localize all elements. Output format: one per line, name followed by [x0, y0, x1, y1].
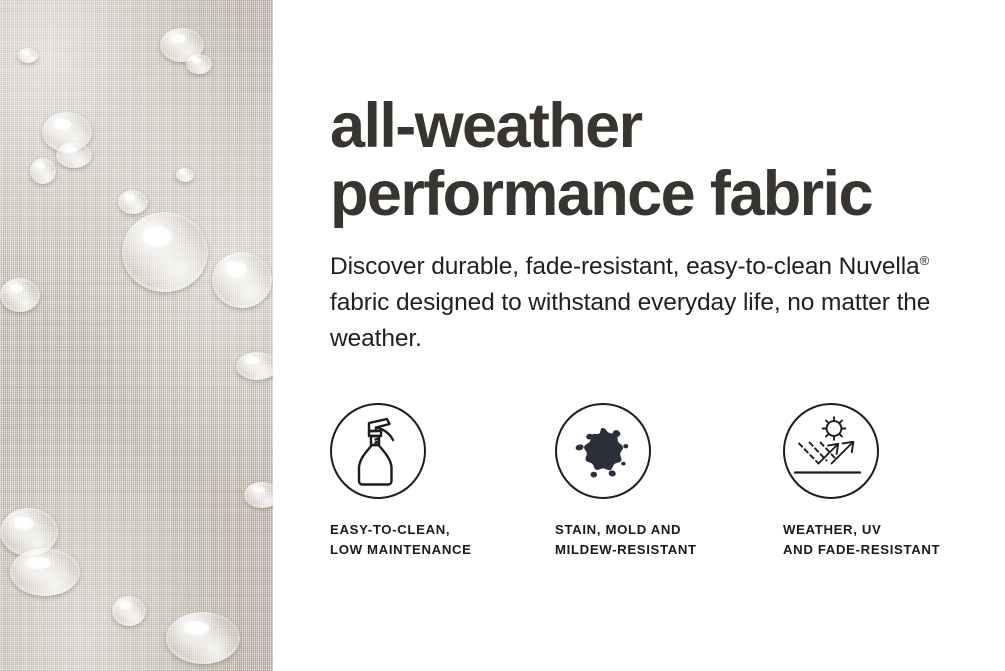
water-droplet — [56, 142, 92, 168]
page-title: all-weather performance fabric — [330, 92, 990, 228]
water-droplet — [236, 352, 273, 380]
feature-item-easy-to-clean: EASY-TO-CLEAN, LOW MAINTENANCE — [330, 403, 540, 560]
feature-caption: WEATHER, UV AND FADE-RESISTANT — [783, 520, 993, 560]
spray-bottle-icon — [330, 403, 426, 499]
registered-trademark-mark: ® — [920, 253, 930, 268]
promo-banner: all-weather performance fabric Discover … — [0, 0, 1005, 671]
water-droplet — [18, 48, 38, 63]
feature-list: EASY-TO-CLEAN, LOW MAINTENANCE — [330, 403, 990, 573]
subheading-part-2: fabric designed to withstand everyday li… — [330, 289, 930, 352]
feature-caption: STAIN, MOLD AND MILDEW-RESISTANT — [555, 520, 765, 560]
water-droplet — [212, 252, 272, 308]
water-droplet — [0, 278, 40, 312]
content-panel: all-weather performance fabric Discover … — [330, 0, 990, 671]
feature-item-weather-resistant: WEATHER, UV AND FADE-RESISTANT — [783, 403, 993, 560]
ink-splat-icon — [555, 403, 651, 499]
fabric-photo — [0, 0, 273, 671]
sun-uv-reflect-icon — [783, 403, 879, 499]
subheading-text: Discover durable, fade-resistant, easy-t… — [330, 243, 955, 357]
water-droplet — [30, 158, 56, 184]
subheading-part-1: Discover durable, fade-resistant, easy-t… — [330, 253, 920, 280]
water-droplet — [122, 212, 208, 292]
feature-caption: EASY-TO-CLEAN, LOW MAINTENANCE — [330, 520, 540, 560]
feature-item-stain-resistant: STAIN, MOLD AND MILDEW-RESISTANT — [555, 403, 765, 560]
water-droplet — [176, 168, 194, 182]
water-droplet — [112, 596, 146, 626]
water-droplet — [166, 612, 240, 664]
water-droplet — [244, 482, 273, 508]
water-droplet — [10, 548, 80, 596]
water-droplet — [118, 190, 148, 214]
water-droplet — [186, 54, 212, 74]
